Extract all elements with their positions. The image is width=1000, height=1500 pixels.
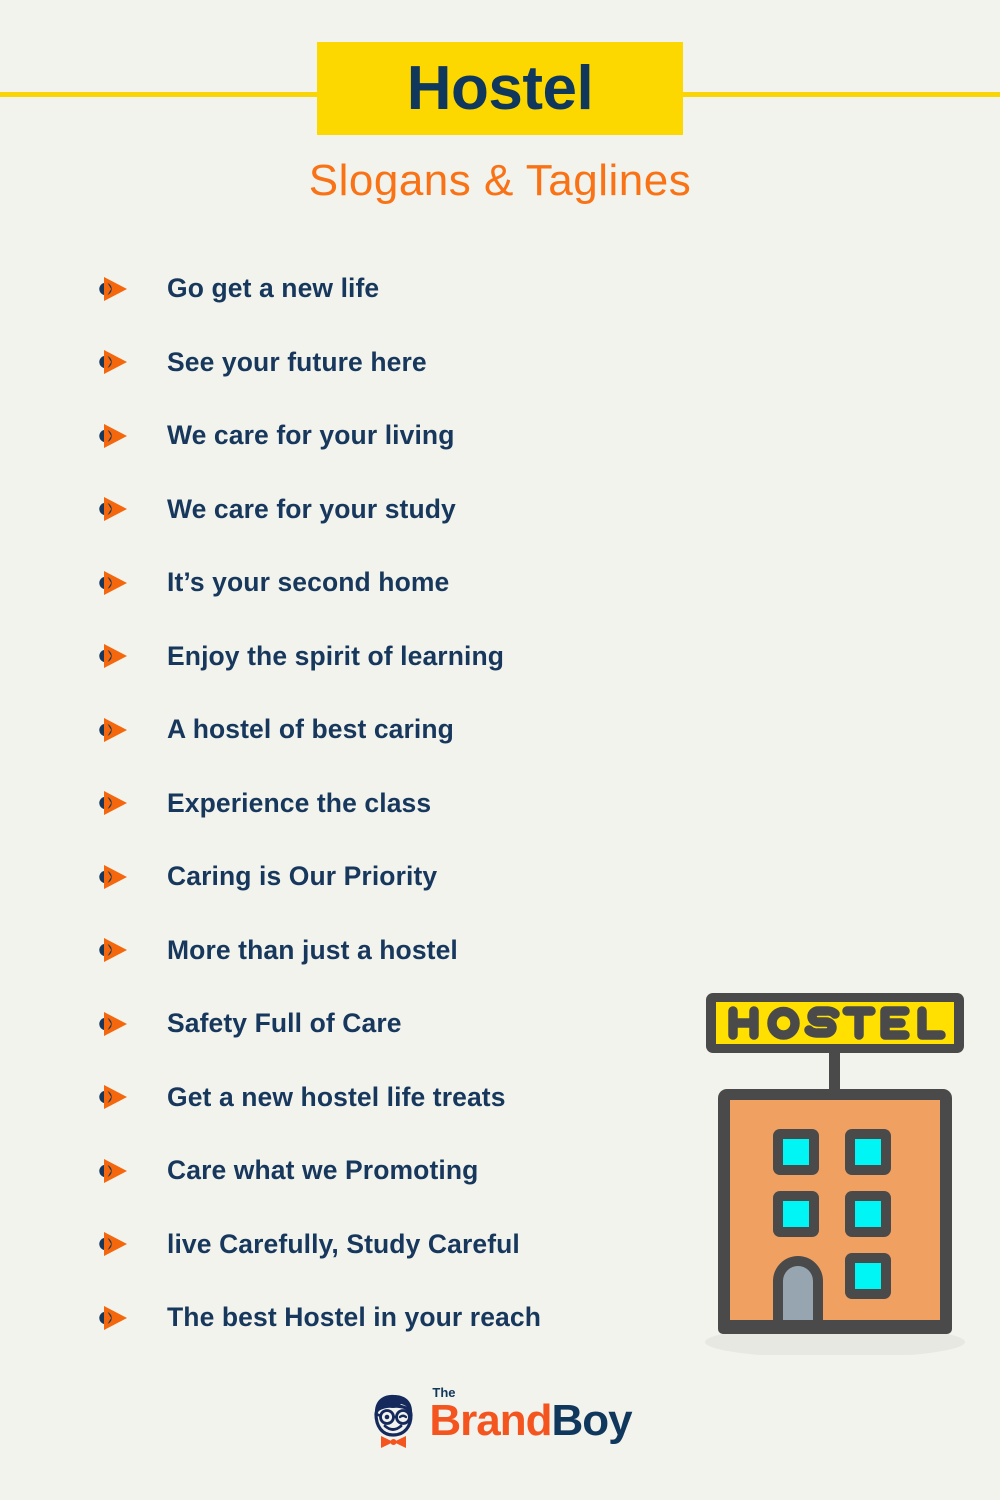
arrow-bullet-icon: [98, 643, 128, 669]
slogan-list-item: Care what we Promoting: [98, 1134, 718, 1208]
slogan-list-item: Safety Full of Care: [98, 987, 718, 1061]
slogan-text: Enjoy the spirit of learning: [167, 641, 504, 672]
slogan-list-item: A hostel of best caring: [98, 693, 718, 767]
slogan-list-item: More than just a hostel: [98, 914, 718, 988]
arrow-bullet-icon: [98, 276, 128, 302]
slogan-text: A hostel of best caring: [167, 714, 454, 745]
slogan-text: Care what we Promoting: [167, 1155, 478, 1186]
arrow-bullet-icon: [98, 1231, 128, 1257]
slogan-list-item: Go get a new life: [98, 252, 718, 326]
logo-the-text: The: [432, 1386, 455, 1399]
logo-brand-text: Brand: [429, 1399, 551, 1443]
slogan-text: Go get a new life: [167, 273, 379, 304]
brandboy-mascot-icon: [368, 1392, 420, 1450]
slogan-list-item: Enjoy the spirit of learning: [98, 620, 718, 694]
page-title: Hostel: [407, 58, 593, 120]
slogan-text: Safety Full of Care: [167, 1008, 402, 1039]
hostel-building-illustration: [690, 985, 980, 1355]
arrow-bullet-icon: [98, 496, 128, 522]
arrow-bullet-icon: [98, 717, 128, 743]
slogan-text: See your future here: [167, 347, 427, 378]
slogan-text: We care for your study: [167, 494, 456, 525]
brandboy-logo[interactable]: The Brand Boy: [0, 1392, 1000, 1450]
slogan-text: live Carefully, Study Careful: [167, 1229, 520, 1260]
slogan-text: It’s your second home: [167, 567, 449, 598]
arrow-bullet-icon: [98, 1158, 128, 1184]
slogan-list-item: It’s your second home: [98, 546, 718, 620]
slogan-text: We care for your living: [167, 420, 455, 451]
slogan-list-item: Get a new hostel life treats: [98, 1061, 718, 1135]
arrow-bullet-icon: [98, 937, 128, 963]
slogan-text: More than just a hostel: [167, 935, 458, 966]
arrow-bullet-icon: [98, 790, 128, 816]
slogan-text: Get a new hostel life treats: [167, 1082, 506, 1113]
slogan-text: Caring is Our Priority: [167, 861, 437, 892]
slogan-text: Experience the class: [167, 788, 431, 819]
arrow-bullet-icon: [98, 1084, 128, 1110]
arrow-bullet-icon: [98, 423, 128, 449]
slogan-list-item: We care for your living: [98, 399, 718, 473]
slogan-list-item: See your future here: [98, 326, 718, 400]
slogan-text: The best Hostel in your reach: [167, 1302, 541, 1333]
arrow-bullet-icon: [98, 1305, 128, 1331]
slogan-list-item: Caring is Our Priority: [98, 840, 718, 914]
arrow-bullet-icon: [98, 1011, 128, 1037]
page-subtitle: Slogans & Taglines: [0, 157, 1000, 205]
logo-boy-text: Boy: [552, 1399, 632, 1443]
slogan-list-item: live Carefully, Study Careful: [98, 1208, 718, 1282]
slogan-list-item: Experience the class: [98, 767, 718, 841]
slogan-list: Go get a new lifeSee your future hereWe …: [98, 252, 718, 1355]
slogan-list-item: We care for your study: [98, 473, 718, 547]
brandboy-wordmark: The Brand Boy: [429, 1399, 631, 1443]
arrow-bullet-icon: [98, 864, 128, 890]
arrow-bullet-icon: [98, 349, 128, 375]
title-banner: Hostel: [317, 42, 683, 135]
slogan-list-item: The best Hostel in your reach: [98, 1281, 718, 1355]
poster-root: Hostel Slogans & Taglines Go get a new l…: [0, 0, 1000, 1500]
arrow-bullet-icon: [98, 570, 128, 596]
